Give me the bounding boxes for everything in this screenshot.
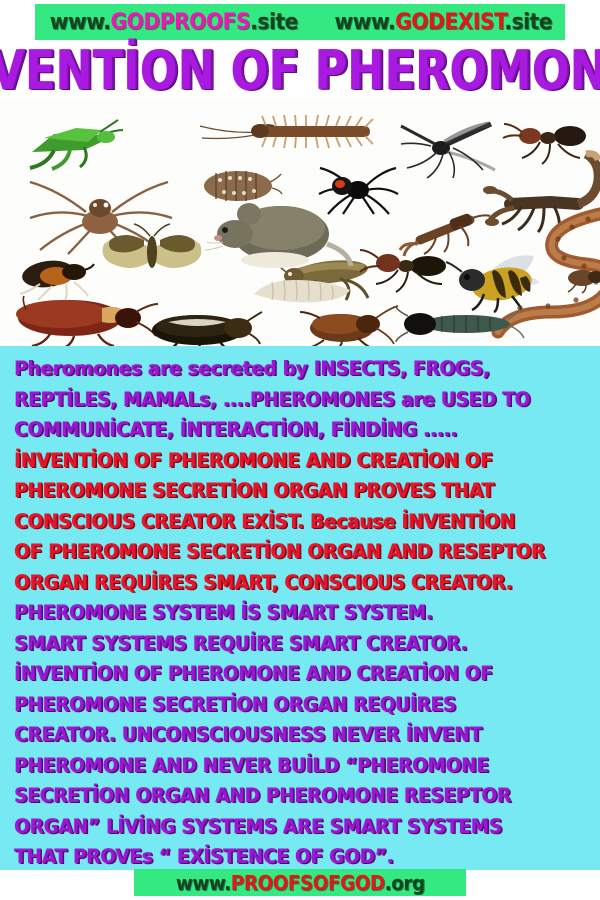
url-godexist[interactable]: www.GODEXIST.site (334, 10, 552, 35)
body-line: Pheromones are secreted by INSECTS, FROG… (14, 354, 558, 385)
top-url-bar: www.GODPROOFS.site www.GODEXIST.site (35, 4, 565, 40)
moth-image (100, 224, 204, 278)
url-godproofs[interactable]: www.GODPROOFS.site (50, 10, 298, 35)
url-suffix: .site (504, 10, 552, 35)
body-line: THAT PROVEs “ EXİSTENCE OF GOD”. (14, 842, 558, 873)
url-suffix: .site (250, 10, 298, 35)
grasshopper-green-image (14, 116, 124, 174)
cockroach-black-image (138, 310, 262, 346)
body-line: İNVENTİON OF PHEROMONE AND CREATİON OF (14, 446, 558, 477)
url-domain: GODPROOFS (110, 10, 250, 35)
body-line: PHEROMONE SECRETİON ORGAN PROVES THAT (14, 476, 558, 507)
body-line: PHEROMONE AND NEVER BUİLD “PHEROMONE (14, 751, 558, 782)
mouse-image (215, 198, 351, 274)
silverfish-image (396, 304, 524, 346)
url-prefix: www. (176, 871, 231, 895)
termite-image (566, 262, 600, 294)
cockroach-small-image (290, 304, 400, 346)
bottom-url-bar: www.PROOFSOFGOD.org (134, 869, 466, 896)
body-line: SECRETİON ORGAN AND PHEROMONE RESEPTOR (14, 781, 558, 812)
body-line: ORGAN” LİVİNG SYSTEMS ARE SMART SYSTEMS (14, 812, 558, 843)
body-line: OF PHEROMONE SECRETİON ORGAN AND RESEPTO… (14, 537, 558, 568)
url-proofsofgod[interactable]: www.PROOFSOFGOD.org (176, 871, 425, 895)
title-container: İNVENTİON OF PHEROMONEs (0, 42, 600, 98)
body-line: COMMUNİCATE, İNTERACTİON, FİNDİNG ..... (14, 415, 558, 446)
body-line: CONSCIOUS CREATOR EXİST. Because İNVENTİ… (14, 507, 558, 538)
url-suffix: .org (384, 871, 424, 895)
body-line: ORGAN REQUİRES SMART, CONSCIOUS CREATOR. (14, 568, 558, 599)
url-domain: GODEXIST (395, 10, 504, 35)
url-prefix: www. (50, 10, 111, 35)
url-prefix: www. (334, 10, 395, 35)
body-line: PHEROMONE SYSTEM İS SMART SYSTEM. (14, 598, 558, 629)
body-line: REPTİLES, MAMALs, ....PHEROMONES are USE… (14, 385, 558, 416)
centipede-image (190, 114, 380, 160)
body-line: CREATOR. UNCONSCIOUSNESS NEVER İNVENT (14, 720, 558, 751)
body-line: PHEROMONE SECRETİON ORGAN REQUİRES (14, 690, 558, 721)
larva-image (248, 276, 356, 306)
page-title: İNVENTİON OF PHEROMONEs (0, 43, 600, 97)
body-line: SMART SYSTEMS REQUİRE SMART CREATOR. (14, 629, 558, 660)
poster: www.GODPROOFS.site www.GODEXIST.site İNV… (0, 0, 600, 900)
message-panel: Pheromones are secreted by INSECTS, FROG… (0, 346, 600, 870)
cockroach-red-image (10, 294, 150, 346)
insect-collage (0, 98, 600, 346)
url-domain: PROOFSOFGOD (230, 871, 384, 895)
body-line: İNVENTİON OF PHEROMONE AND CREATİON OF (14, 659, 558, 690)
